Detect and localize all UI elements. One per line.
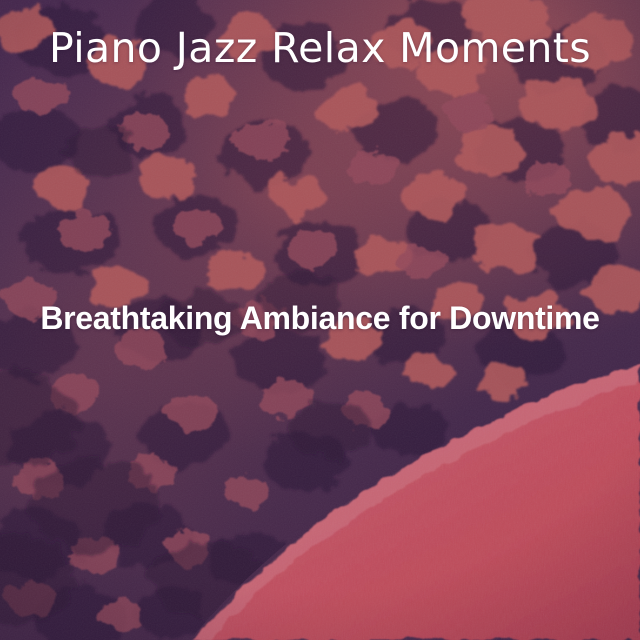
album-title: Piano Jazz Relax Moments	[0, 25, 640, 71]
album-subtitle: Breathtaking Ambiance for Downtime	[0, 299, 640, 337]
album-cover: Piano Jazz Relax Moments Breathtaking Am…	[0, 0, 640, 640]
